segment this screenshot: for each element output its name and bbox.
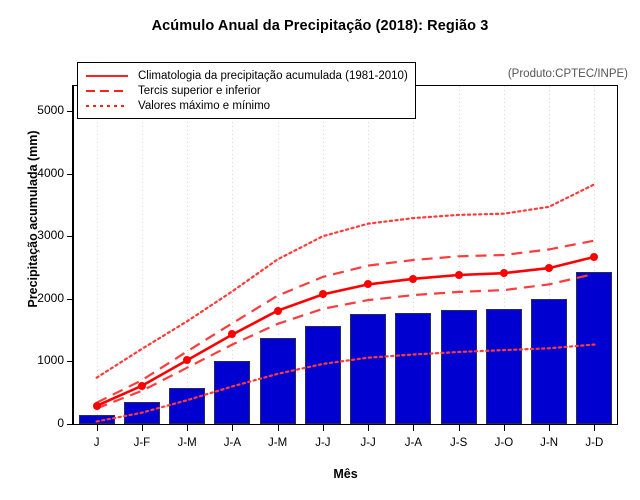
x-axis: JJ-FJ-MJ-AJ-MJ-JJ-JJ-AJ-SJ-OJ-NJ-D — [73, 425, 618, 465]
legend-item-climatology: Climatologia da precipitação acumulada (… — [84, 68, 408, 83]
series-line — [97, 345, 595, 422]
legend-key-solid-line-icon — [84, 70, 130, 82]
y-tick-label: 4000 — [37, 166, 64, 180]
x-tick-mark — [323, 425, 324, 431]
legend-item-terciles: Tercis superior e inferior — [84, 83, 408, 98]
x-tick-mark — [549, 425, 550, 431]
y-tick-label: 2000 — [37, 291, 64, 305]
source-note: (Produto:CPTEC/INPE) — [508, 68, 628, 80]
x-tick-mark — [413, 425, 414, 431]
data-point-marker — [93, 402, 101, 410]
precipitation-chart-figure: Acúmulo Anual da Precipitação (2018): Re… — [0, 0, 640, 500]
x-tick-mark — [187, 425, 188, 431]
series-line — [97, 257, 595, 406]
y-tick-label: 0 — [57, 416, 64, 430]
chart-title: Acúmulo Anual da Precipitação (2018): Re… — [0, 18, 640, 34]
x-tick-label: J-M — [161, 437, 213, 449]
x-tick-mark — [504, 425, 505, 431]
legend-label: Valores máximo e mínimo — [138, 100, 270, 112]
x-tick-mark — [459, 425, 460, 431]
x-tick-label: J-O — [478, 437, 530, 449]
y-tick-label: 3000 — [37, 228, 64, 242]
x-tick-mark — [232, 425, 233, 431]
x-tick-mark — [594, 425, 595, 431]
legend-key-dashed-line-icon — [84, 85, 130, 97]
data-point-marker — [500, 269, 508, 277]
chart-legend: Climatologia da precipitação acumulada (… — [77, 62, 416, 119]
data-point-marker — [274, 307, 282, 315]
x-tick-label: J-M — [252, 437, 304, 449]
x-tick-label: J-S — [433, 437, 485, 449]
reference-curves — [74, 86, 617, 424]
legend-key-dotted-line-icon — [84, 100, 130, 112]
x-axis-title: Mês — [73, 467, 618, 481]
x-tick-mark — [142, 425, 143, 431]
legend-label: Climatologia da precipitação acumulada (… — [138, 70, 408, 82]
series-line — [97, 274, 595, 409]
y-tick-label: 5000 — [37, 103, 64, 117]
x-tick-label: J-D — [568, 437, 620, 449]
y-tick-label: 1000 — [37, 353, 64, 367]
x-tick-mark — [97, 425, 98, 431]
x-tick-label: J — [71, 437, 123, 449]
legend-item-extremes: Valores máximo e mínimo — [84, 98, 408, 113]
x-tick-mark — [368, 425, 369, 431]
data-point-marker — [138, 382, 146, 390]
x-tick-label: J-N — [523, 437, 575, 449]
x-tick-label: J-A — [206, 437, 258, 449]
data-layer — [74, 86, 617, 424]
series-line — [97, 241, 595, 403]
x-tick-label: J-F — [116, 437, 168, 449]
plot-area — [73, 85, 618, 425]
x-tick-label: J-J — [297, 437, 349, 449]
x-tick-label: J-J — [342, 437, 394, 449]
x-tick-mark — [278, 425, 279, 431]
y-axis-title: Precipitação acumulada (mm) — [26, 94, 40, 344]
legend-label: Tercis superior e inferior — [138, 85, 261, 97]
x-tick-label: J-A — [387, 437, 439, 449]
data-point-marker — [455, 271, 463, 279]
